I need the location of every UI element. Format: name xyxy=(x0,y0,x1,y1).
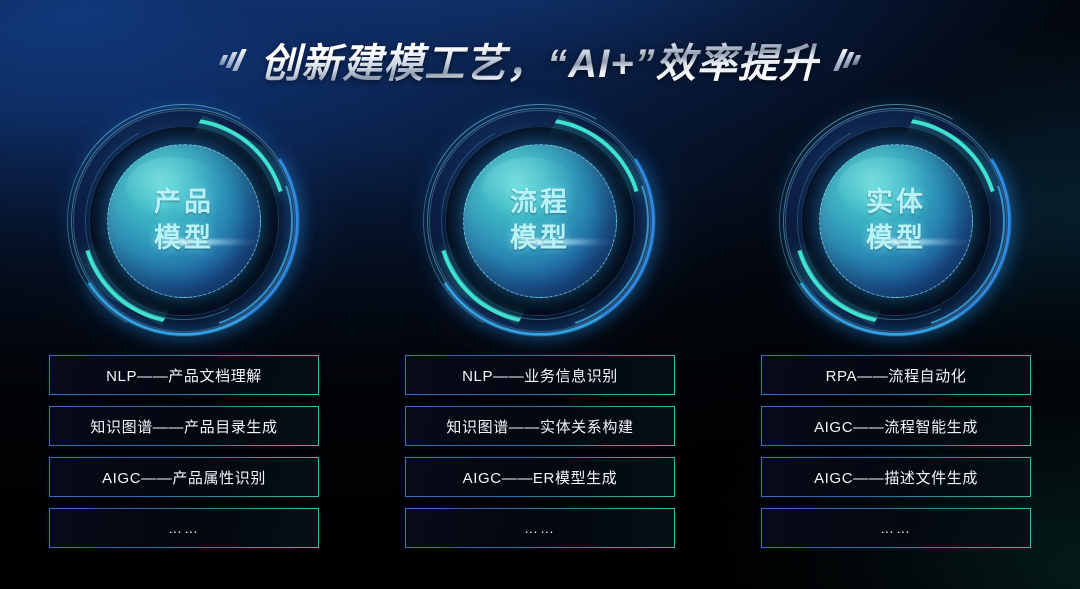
list-entity-model: RPA——流程自动化 AIGC——流程智能生成 AIGC——描述文件生成 …… xyxy=(761,355,1031,548)
badge-lens-flare-streak xyxy=(507,239,616,245)
list-process-model: NLP——业务信息识别 知识图谱——实体关系构建 AIGC——ER模型生成 …… xyxy=(405,355,675,548)
list-item[interactable]: NLP——业务信息识别 xyxy=(405,355,675,395)
circle-badge-entity-model[interactable]: 实体 模型 xyxy=(783,108,1009,334)
list-item[interactable]: RPA——流程自动化 xyxy=(761,355,1031,395)
badge-sphere-gloss xyxy=(838,157,932,218)
column-entity-model: 实体 模型 RPA——流程自动化 AIGC——流程智能生成 AIGC——描述文件… xyxy=(740,0,1052,589)
list-item[interactable]: NLP——产品文档理解 xyxy=(49,355,319,395)
list-item[interactable]: …… xyxy=(49,508,319,548)
badge-lens-flare-streak xyxy=(151,239,260,245)
list-item[interactable]: AIGC——流程智能生成 xyxy=(761,406,1031,446)
list-item[interactable]: AIGC——描述文件生成 xyxy=(761,457,1031,497)
badge-lens-flare-core xyxy=(525,237,541,246)
list-item[interactable]: …… xyxy=(761,508,1031,548)
columns-container: 产品 模型 NLP——产品文档理解 知识图谱——产品目录生成 AIGC——产品属… xyxy=(0,0,1080,589)
circle-badge-process-model[interactable]: 流程 模型 xyxy=(427,108,653,334)
column-process-model: 流程 模型 NLP——业务信息识别 知识图谱——实体关系构建 AIGC——ER模… xyxy=(384,0,696,589)
slide-canvas: 创新建模工艺，“AI+”效率提升 xyxy=(0,0,1080,589)
badge-sphere xyxy=(819,144,973,298)
list-product-model: NLP——产品文档理解 知识图谱——产品目录生成 AIGC——产品属性识别 …… xyxy=(49,355,319,548)
list-item[interactable]: 知识图谱——实体关系构建 xyxy=(405,406,675,446)
circle-badge-product-model[interactable]: 产品 模型 xyxy=(71,108,297,334)
badge-sphere-gloss xyxy=(482,157,576,218)
list-item[interactable]: …… xyxy=(405,508,675,548)
badge-lens-flare-streak xyxy=(863,239,972,245)
list-item[interactable]: AIGC——ER模型生成 xyxy=(405,457,675,497)
badge-sphere-gloss xyxy=(126,157,220,218)
badge-sphere xyxy=(463,144,617,298)
badge-lens-flare-core xyxy=(169,237,185,246)
column-product-model: 产品 模型 NLP——产品文档理解 知识图谱——产品目录生成 AIGC——产品属… xyxy=(28,0,340,589)
list-item[interactable]: AIGC——产品属性识别 xyxy=(49,457,319,497)
list-item[interactable]: 知识图谱——产品目录生成 xyxy=(49,406,319,446)
badge-sphere xyxy=(107,144,261,298)
badge-lens-flare-core xyxy=(881,237,897,246)
